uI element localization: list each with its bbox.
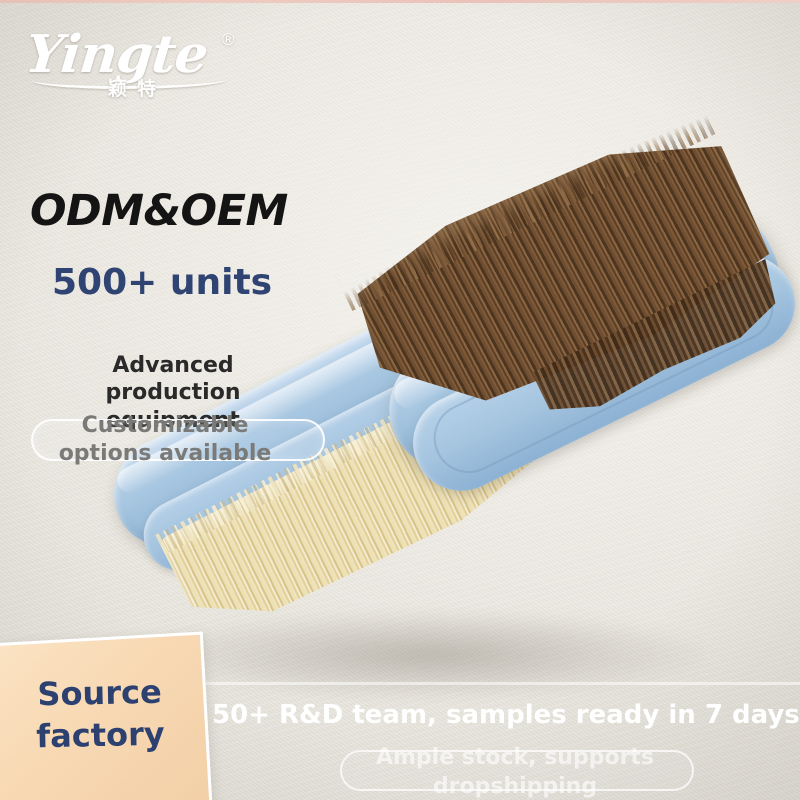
brand-chinese-name: 颖特 bbox=[108, 74, 166, 101]
brand-logo: Yingte ® 颖特 bbox=[26, 22, 256, 100]
subheadline-moq: 500+ units bbox=[52, 262, 272, 303]
product-marketing-banner: Yingte ® 颖特 ODM&OEM 500+ units Advanced … bbox=[0, 0, 800, 800]
top-edge-hairline bbox=[0, 0, 800, 3]
customizable-pill-label: Customizable options available bbox=[34, 412, 296, 468]
headline-odm-oem: ODM&OEM bbox=[30, 186, 288, 236]
banner-title-rd-team: 50+ R&D team, samples ready in 7 days bbox=[212, 700, 792, 730]
source-factory-label: Source factory bbox=[9, 670, 191, 758]
registered-trademark-icon: ® bbox=[222, 30, 235, 50]
stock-pill-label: Ample stock, supports dropshipping bbox=[345, 744, 685, 800]
